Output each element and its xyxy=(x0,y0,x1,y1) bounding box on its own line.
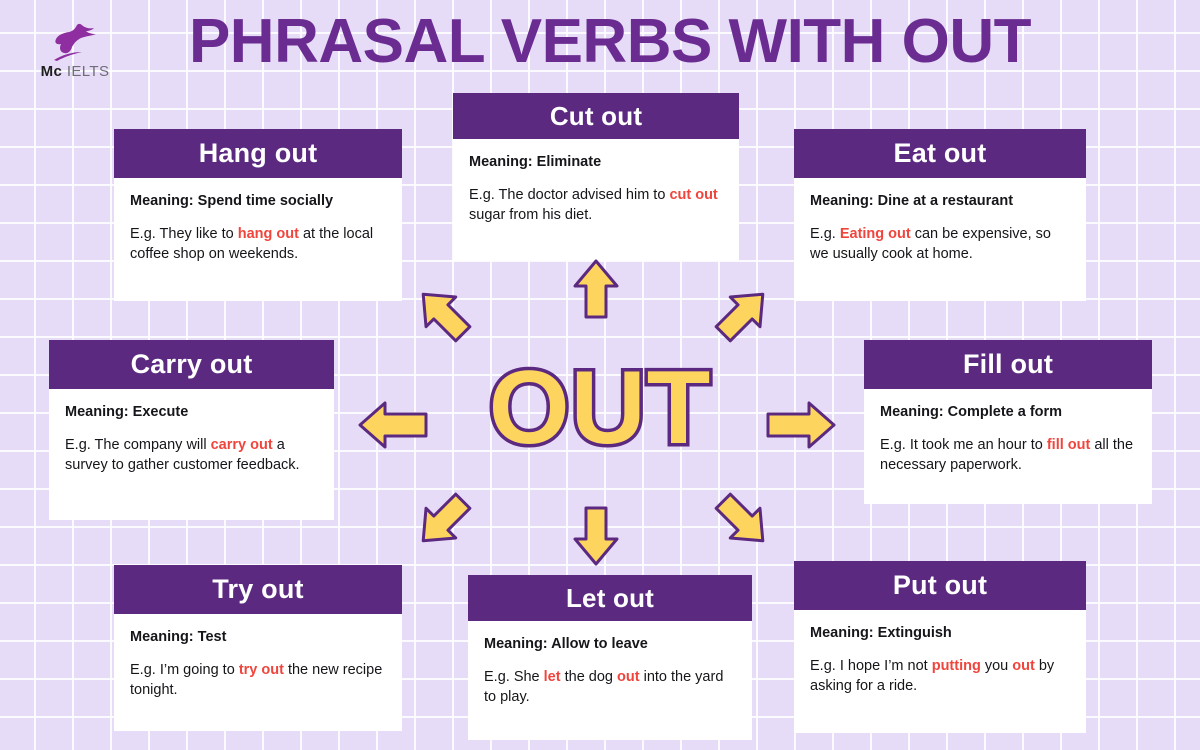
example-text: E.g. xyxy=(810,226,840,242)
card-title-try-out: Try out xyxy=(114,565,402,614)
card-body-let-out: Meaning: Allow to leave E.g. She let the… xyxy=(468,621,752,740)
card-body-eat-out: Meaning: Dine at a restaurant E.g. Eatin… xyxy=(794,178,1086,301)
card-let-out: Let out Meaning: Allow to leave E.g. She… xyxy=(468,575,752,740)
example-text: E.g. They like to xyxy=(130,226,238,242)
example-text: the dog xyxy=(561,669,617,685)
brand-name: Mc IELTS xyxy=(28,63,122,80)
center-out-label: OUT xyxy=(465,355,735,460)
card-hang-out: Hang out Meaning: Spend time socially E.… xyxy=(114,129,402,301)
card-example-eat-out: E.g. Eating out can be expensive, so we … xyxy=(810,224,1070,264)
card-try-out: Try out Meaning: Test E.g. I’m going to … xyxy=(114,565,402,731)
card-body-try-out: Meaning: Test E.g. I’m going to try out … xyxy=(114,614,402,731)
arrow-right-icon xyxy=(765,399,837,451)
card-eat-out: Eat out Meaning: Dine at a restaurant E.… xyxy=(794,129,1086,301)
arrow-down-icon xyxy=(565,505,627,567)
arrow-up-left-icon xyxy=(412,283,474,345)
brand-name-ielts-text: IELTS xyxy=(67,63,110,80)
brand-name-mc: Mc xyxy=(41,63,63,80)
example-text: sugar from his diet. xyxy=(469,207,592,223)
card-title-carry-out: Carry out xyxy=(49,340,334,389)
arrow-left-icon xyxy=(357,399,429,451)
card-title-put-out: Put out xyxy=(794,561,1086,610)
card-body-hang-out: Meaning: Spend time socially E.g. They l… xyxy=(114,178,402,301)
brand-logo: Mc IELTS xyxy=(28,22,122,84)
highlighted-phrase: out xyxy=(617,669,640,685)
highlighted-phrase: putting xyxy=(932,658,981,674)
page-title: PHRASAL VERBS WITH OUT xyxy=(150,6,1070,78)
card-meaning-cut-out: Meaning: Eliminate xyxy=(469,153,723,171)
example-text: E.g. I hope I’m not xyxy=(810,658,932,674)
card-example-carry-out: E.g. The company will carry out a survey… xyxy=(65,435,318,475)
card-title-fill-out: Fill out xyxy=(864,340,1152,389)
card-cut-out: Cut out Meaning: Eliminate E.g. The doct… xyxy=(453,93,739,261)
card-body-put-out: Meaning: Extinguish E.g. I hope I’m not … xyxy=(794,610,1086,733)
highlighted-phrase: Eating out xyxy=(840,226,911,242)
card-body-cut-out: Meaning: Eliminate E.g. The doctor advis… xyxy=(453,139,739,261)
card-meaning-put-out: Meaning: Extinguish xyxy=(810,624,1070,642)
card-title-eat-out: Eat out xyxy=(794,129,1086,178)
card-title-let-out: Let out xyxy=(468,575,752,621)
card-title-cut-out: Cut out xyxy=(453,93,739,139)
highlighted-phrase: try out xyxy=(239,662,284,678)
card-example-try-out: E.g. I’m going to try out the new recipe… xyxy=(130,660,386,700)
card-example-hang-out: E.g. They like to hang out at the local … xyxy=(130,224,386,264)
example-text: E.g. I’m going to xyxy=(130,662,239,678)
arrow-up-icon xyxy=(565,258,627,320)
example-text: E.g. The doctor advised him to xyxy=(469,187,669,203)
example-text: E.g. It took me an hour to xyxy=(880,437,1047,453)
card-meaning-eat-out: Meaning: Dine at a restaurant xyxy=(810,192,1070,210)
card-body-fill-out: Meaning: Complete a form E.g. It took me… xyxy=(864,389,1152,504)
card-meaning-carry-out: Meaning: Execute xyxy=(65,403,318,421)
card-meaning-let-out: Meaning: Allow to leave xyxy=(484,635,736,653)
card-meaning-fill-out: Meaning: Complete a form xyxy=(880,403,1136,421)
example-text: E.g. The company will xyxy=(65,437,211,453)
arrow-up-right-icon xyxy=(712,283,774,345)
card-title-hang-out: Hang out xyxy=(114,129,402,178)
card-meaning-hang-out: Meaning: Spend time socially xyxy=(130,192,386,210)
example-text: you xyxy=(981,658,1012,674)
card-example-cut-out: E.g. The doctor advised him to cut out s… xyxy=(469,185,723,225)
highlighted-phrase: cut out xyxy=(669,187,717,203)
card-example-fill-out: E.g. It took me an hour to fill out all … xyxy=(880,435,1136,475)
card-put-out: Put out Meaning: Extinguish E.g. I hope … xyxy=(794,561,1086,733)
highlighted-phrase: let xyxy=(544,669,561,685)
card-body-carry-out: Meaning: Execute E.g. The company will c… xyxy=(49,389,334,520)
highlighted-phrase: fill out xyxy=(1047,437,1091,453)
highlighted-phrase: carry out xyxy=(211,437,273,453)
hummingbird-icon xyxy=(46,22,104,62)
card-carry-out: Carry out Meaning: Execute E.g. The comp… xyxy=(49,340,334,520)
card-meaning-try-out: Meaning: Test xyxy=(130,628,386,646)
highlighted-phrase: hang out xyxy=(238,226,299,242)
card-fill-out: Fill out Meaning: Complete a form E.g. I… xyxy=(864,340,1152,504)
example-text: E.g. She xyxy=(484,669,544,685)
card-example-put-out: E.g. I hope I’m not putting you out by a… xyxy=(810,656,1070,696)
card-example-let-out: E.g. She let the dog out into the yard t… xyxy=(484,667,736,707)
arrow-down-right-icon xyxy=(712,490,774,552)
arrow-down-left-icon xyxy=(412,490,474,552)
highlighted-phrase: out xyxy=(1012,658,1035,674)
infographic-canvas: Mc IELTS PHRASAL VERBS WITH OUT Hang out… xyxy=(0,0,1200,750)
